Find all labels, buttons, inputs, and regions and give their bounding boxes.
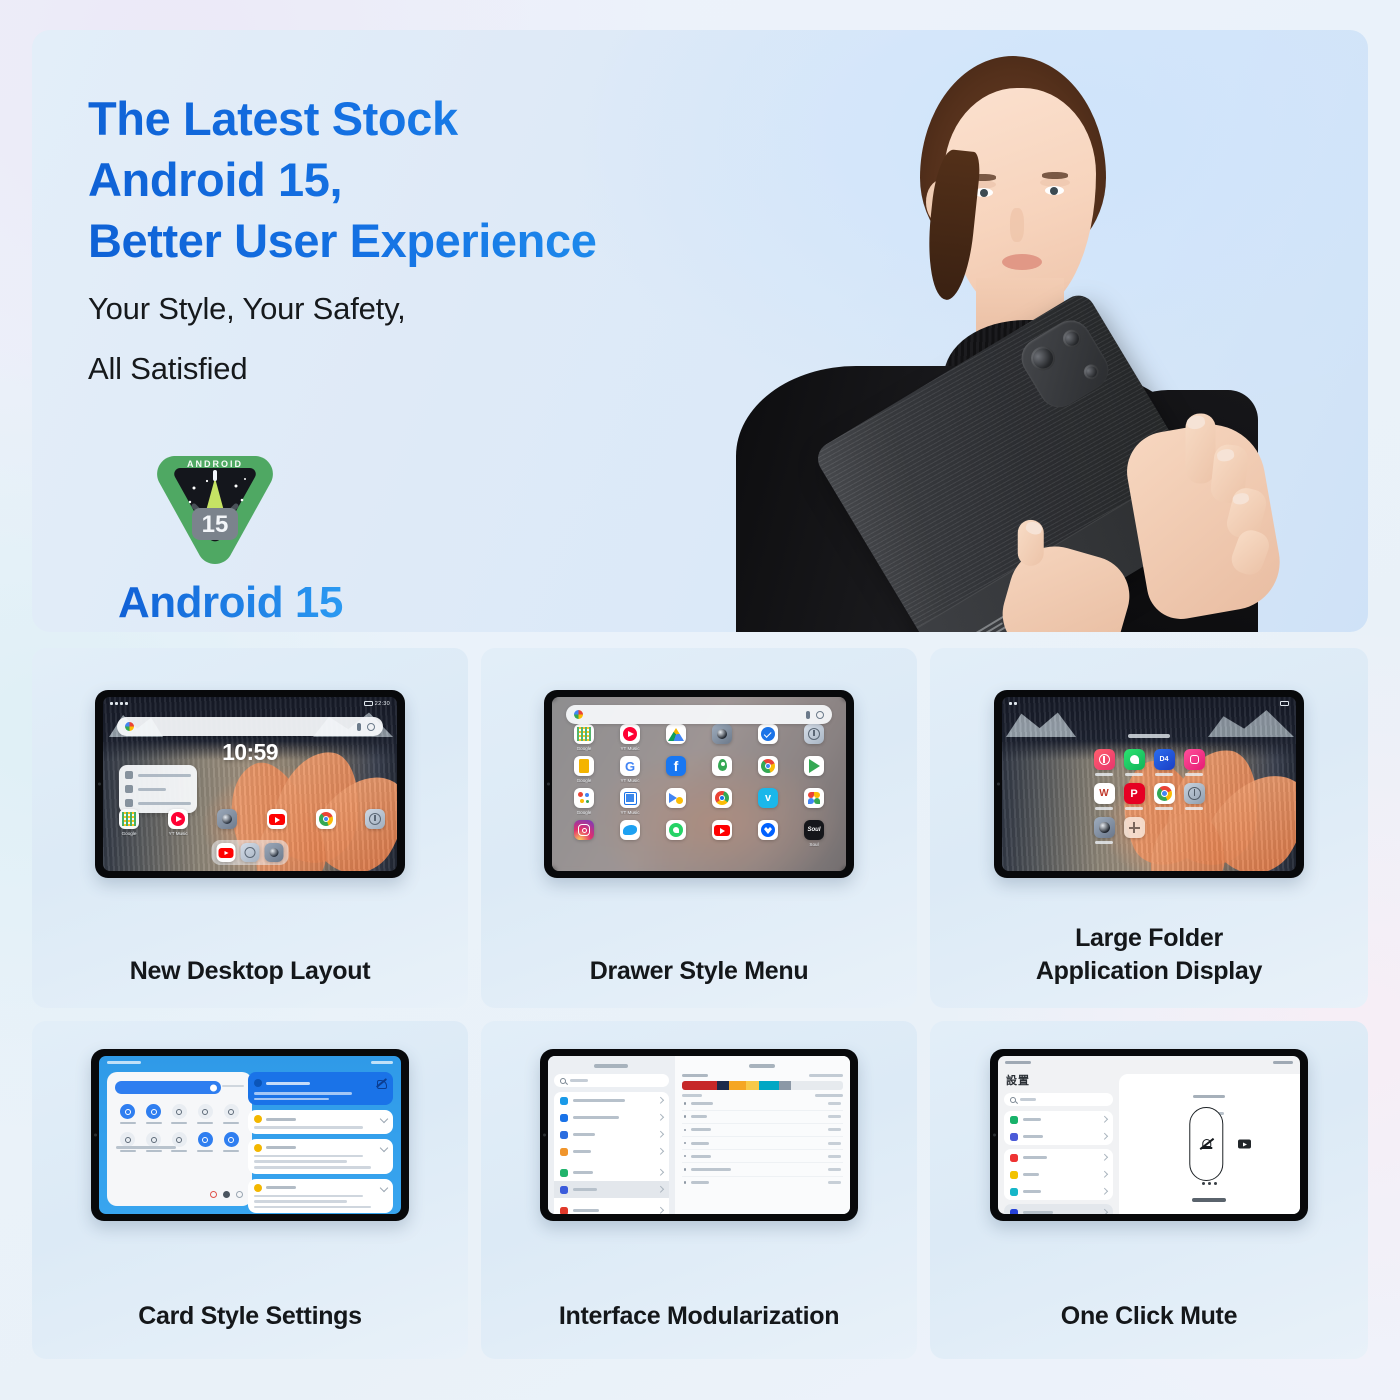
wallet-icon <box>125 785 133 793</box>
feature-card-card-style-settings[interactable]: Card Style Settings <box>32 1021 468 1359</box>
toggle-screen-record[interactable] <box>167 1132 193 1152</box>
android-15-wordmark: Android 15 <box>118 578 343 628</box>
home-app-youtube[interactable] <box>265 809 289 836</box>
user-icon[interactable] <box>223 1191 230 1198</box>
lens-camera-icon[interactable] <box>816 711 824 719</box>
front-camera-dot <box>94 1134 97 1137</box>
model-photo <box>668 30 1368 632</box>
front-camera-dot <box>543 1134 546 1137</box>
folder-app-5[interactable]: W <box>1089 783 1119 811</box>
home-app-camera[interactable] <box>215 809 239 836</box>
chevron-down-icon[interactable] <box>380 1115 388 1123</box>
drawer-app-settings[interactable] <box>791 724 837 751</box>
sidebar-item-battery[interactable] <box>554 1164 669 1181</box>
app-avatar <box>254 1184 262 1192</box>
notification-card-highlighted[interactable] <box>248 1072 393 1105</box>
scan-icon <box>125 771 133 779</box>
home-search-bar[interactable] <box>117 717 383 736</box>
dock-app-settings[interactable] <box>241 843 260 862</box>
chevron-down-icon[interactable] <box>380 1144 388 1152</box>
badge-android-text: ANDROID <box>187 459 243 469</box>
lens-camera-icon[interactable] <box>367 723 375 731</box>
app-label: Google <box>577 746 592 751</box>
storage-row[interactable] <box>682 1150 843 1163</box>
settings-two-pane <box>548 1056 850 1214</box>
clock-widget: 10:59 <box>103 739 397 766</box>
front-camera-dot <box>993 1134 996 1137</box>
home-app-yt-music[interactable]: YT Music <box>166 809 190 836</box>
sidebar-item-notifications[interactable] <box>1004 1204 1113 1214</box>
search-icon <box>1010 1097 1016 1103</box>
app-label: Google <box>117 831 141 836</box>
drawer-app-google[interactable]: Google <box>561 724 607 751</box>
drawer-app-calendar[interactable]: YT Music <box>607 788 653 815</box>
chevron-down-icon[interactable] <box>380 1183 388 1191</box>
storage-row[interactable] <box>682 1111 843 1124</box>
drawer-app-chrome-alt[interactable] <box>699 788 745 815</box>
drawer-app-google-lens[interactable]: Google <box>561 788 607 815</box>
folder-app-camera[interactable] <box>1089 817 1119 845</box>
media-volume-icon[interactable] <box>1238 1140 1251 1149</box>
large-folder-grid: D4 W <box>1089 749 1209 845</box>
feature-card-large-folder-display[interactable]: D4 W <box>930 648 1368 1008</box>
toggle-dnd[interactable] <box>167 1104 193 1124</box>
sidebar-item-connection[interactable] <box>1004 1128 1113 1145</box>
feature-card-new-desktop-layout[interactable]: 22:30 10:59 <box>32 648 468 1008</box>
bell-mute-icon <box>1200 1137 1213 1151</box>
storage-usage-bar <box>682 1081 843 1090</box>
card-caption: Card Style Settings <box>138 1300 362 1339</box>
microphone-icon[interactable] <box>806 711 810 719</box>
toggle-wifi[interactable] <box>115 1104 141 1124</box>
sidebar-list <box>554 1092 669 1214</box>
app-label: YT Music <box>620 746 639 751</box>
app-avatar <box>254 1144 262 1152</box>
status-bar <box>998 1056 1300 1069</box>
drawer-app-facebook[interactable]: f <box>653 756 699 783</box>
shortcut-widget-card[interactable] <box>119 765 197 813</box>
drawer-app-dropbox[interactable] <box>745 820 791 847</box>
caption-line-1: Large Folder <box>1075 924 1223 952</box>
home-app-settings[interactable] <box>363 809 387 836</box>
search-icon <box>560 1078 566 1084</box>
drawer-app-instagram[interactable] <box>561 820 607 847</box>
hero-panel: The Latest Stock Android 15, Better User… <box>32 30 1368 632</box>
drawer-app-twitter[interactable] <box>607 820 653 847</box>
tablet-mock-app-drawer: Google YT Music <box>544 690 854 878</box>
caption-line-2: Application Display <box>1036 957 1262 985</box>
card-caption: Interface Modularization <box>559 1300 839 1339</box>
drawer-app-camera[interactable] <box>699 724 745 751</box>
app-avatar <box>254 1079 262 1087</box>
home-dock <box>212 840 289 865</box>
folder-app-3[interactable]: D4 <box>1149 749 1179 777</box>
app-label: Google <box>577 810 592 815</box>
notification-card[interactable] <box>248 1139 393 1174</box>
toggle-auto-rotate[interactable] <box>218 1104 244 1124</box>
folder-app-settings[interactable] <box>1179 783 1209 811</box>
footer-label <box>1192 1198 1226 1202</box>
folder-add-app-button[interactable] <box>1119 817 1149 845</box>
headline-line-1: The Latest Stock <box>88 88 708 149</box>
more-options-icon[interactable] <box>1119 1182 1300 1185</box>
notification-card[interactable] <box>248 1110 393 1134</box>
drawer-app-docs[interactable]: Google <box>561 756 607 783</box>
mute-slash-icon[interactable] <box>375 1077 387 1089</box>
app-label: Google <box>577 778 592 783</box>
notification-shade <box>248 1072 393 1206</box>
status-time: 22:30 <box>375 701 390 707</box>
folder-app-1[interactable] <box>1089 749 1119 777</box>
google-icon <box>125 722 134 731</box>
feature-card-interface-modularization[interactable]: Interface Modularization <box>481 1021 917 1359</box>
headline-line-3: Better User Experience <box>88 210 708 271</box>
dock-app-camera[interactable] <box>265 843 284 862</box>
folder-app-2[interactable] <box>1119 749 1149 777</box>
app-drawer-grid: Google YT Music <box>561 724 837 847</box>
tablet-mock-quick-settings <box>91 1049 409 1221</box>
toggle-night-light[interactable] <box>218 1132 244 1152</box>
app-label: YT Music <box>620 778 639 783</box>
app-label: YT Music <box>166 831 190 836</box>
detail-title <box>1119 1085 1300 1103</box>
tablet-mock-modular-settings <box>540 1049 858 1221</box>
drawer-app-translate[interactable] <box>653 788 699 815</box>
sidebar-item-display[interactable] <box>554 1126 669 1143</box>
phone-icon <box>125 799 133 807</box>
toggle-bluetooth[interactable] <box>141 1104 167 1124</box>
front-camera-dot <box>98 783 101 786</box>
feature-card-grid: 22:30 10:59 <box>32 648 1368 1359</box>
status-bar <box>1002 697 1296 710</box>
drawer-app-maps[interactable] <box>699 756 745 783</box>
folder-app-chrome[interactable] <box>1149 783 1179 811</box>
sidebar-item-network[interactable] <box>1004 1111 1113 1128</box>
tablet-mock-home-screen: 22:30 10:59 <box>95 690 405 878</box>
feature-card-drawer-style-menu[interactable]: Google YT Music <box>481 648 917 1008</box>
card-caption: Drawer Style Menu <box>590 955 809 988</box>
settings-heading: 設置 <box>1006 1072 1113 1088</box>
drawer-app-drive[interactable] <box>653 724 699 751</box>
gear-icon[interactable] <box>236 1191 243 1198</box>
drawer-app-vimeo[interactable]: v <box>745 788 791 815</box>
folder-app-pinterest[interactable]: P <box>1119 783 1149 811</box>
power-icon[interactable] <box>210 1191 217 1198</box>
settings-sidebar: 設置 <box>998 1056 1119 1214</box>
status-bar: 22:30 <box>103 697 397 710</box>
settings-search-input[interactable] <box>554 1074 669 1087</box>
sidebar-item-sound[interactable] <box>1004 1166 1113 1183</box>
mute-settings-screen: 設置 <box>998 1056 1300 1214</box>
drawer-app-yt-music[interactable]: YT Music <box>607 724 653 751</box>
subhead-line-1: Your Style, Your Safety, <box>88 287 708 331</box>
drawer-app-soul[interactable]: Soul Soul <box>791 820 837 847</box>
drawer-app-youtube[interactable] <box>699 820 745 847</box>
android-15-badge: 15 ANDROID <box>150 448 280 577</box>
card-caption: One Click Mute <box>1061 1300 1237 1339</box>
drawer-app-tasks[interactable] <box>745 724 791 751</box>
storage-row[interactable] <box>682 1124 843 1137</box>
settings-detail-pane <box>675 1056 850 1214</box>
app-avatar <box>254 1115 262 1123</box>
tablet-mock-large-folder: D4 W <box>994 690 1304 878</box>
product-infographic: The Latest Stock Android 15, Better User… <box>0 0 1400 1400</box>
sidebar-title <box>594 1064 628 1068</box>
app-label: YT Music <box>620 810 639 815</box>
quick-settings-screen <box>99 1056 401 1214</box>
quick-settings-footer <box>116 1191 243 1198</box>
settings-sidebar <box>548 1056 675 1214</box>
device-info-text <box>116 1146 176 1149</box>
sidebar-item-connection[interactable] <box>554 1109 669 1126</box>
volume-slider-pill[interactable] <box>1190 1107 1224 1181</box>
sidebar-item-network[interactable] <box>554 1092 669 1109</box>
feature-card-one-click-mute[interactable]: 設置 <box>930 1021 1368 1359</box>
drawer-app-whatsapp[interactable] <box>653 820 699 847</box>
drawer-app-chrome[interactable] <box>745 756 791 783</box>
home-app-chrome[interactable] <box>314 809 338 836</box>
sidebar-list <box>1004 1111 1113 1145</box>
hero-copy: The Latest Stock Android 15, Better User… <box>88 88 708 391</box>
drawer-app-photos[interactable] <box>791 788 837 815</box>
subhead-line-2: All Satisfied <box>88 347 708 391</box>
toggle-battery-saver[interactable] <box>115 1132 141 1152</box>
sidebar-item-security[interactable] <box>554 1202 669 1214</box>
status-bar <box>99 1056 401 1069</box>
detail-title <box>749 1064 775 1068</box>
storage-header <box>682 1074 843 1077</box>
mute-detail-pane <box>1119 1074 1300 1214</box>
app-label: Soul <box>809 842 818 847</box>
sidebar-list-2 <box>1004 1149 1113 1200</box>
folder-name[interactable] <box>1002 725 1296 743</box>
status-battery: 22:30 <box>364 701 390 707</box>
badge-version-text: 15 <box>202 511 229 538</box>
microphone-icon[interactable] <box>357 723 361 731</box>
card-caption: New Desktop Layout <box>130 955 370 988</box>
storage-row[interactable] <box>682 1177 843 1189</box>
storage-row[interactable] <box>682 1097 843 1110</box>
status-battery <box>1280 701 1289 706</box>
toggle-mute[interactable] <box>192 1132 218 1152</box>
drawer-search-bar[interactable] <box>566 705 832 724</box>
sidebar-item-storage[interactable] <box>554 1181 669 1198</box>
folder-app-4[interactable] <box>1179 749 1209 777</box>
settings-search-input[interactable] <box>1004 1093 1113 1106</box>
storage-row[interactable] <box>682 1163 843 1176</box>
notification-card[interactable] <box>248 1179 393 1214</box>
dock-app-youtube[interactable] <box>217 843 236 862</box>
drawer-app-play-store[interactable] <box>791 756 837 783</box>
toggle-airplane-mode[interactable] <box>141 1132 167 1152</box>
headline-line-2: Android 15, <box>88 149 708 210</box>
toggle-grid <box>115 1104 244 1152</box>
sidebar-list-3 <box>1004 1204 1113 1214</box>
drawer-app-google-search[interactable]: G YT Music <box>607 756 653 783</box>
status-left-icons <box>1009 702 1017 705</box>
card-caption: Large Folder Application Display <box>1036 922 1262 988</box>
home-app-row: Google YT Music <box>117 809 387 836</box>
home-app-google[interactable]: Google <box>117 809 141 836</box>
status-left-icons <box>110 702 128 705</box>
quick-settings-panel <box>107 1072 252 1206</box>
brightness-slider[interactable] <box>115 1081 221 1094</box>
toggle-flashlight[interactable] <box>192 1104 218 1124</box>
storage-row[interactable] <box>682 1137 843 1150</box>
tablet-mock-mute-settings: 設置 <box>990 1049 1308 1221</box>
front-camera-dot <box>547 783 550 786</box>
google-icon <box>574 710 583 719</box>
front-camera-dot <box>997 783 1000 786</box>
mute-footer <box>1119 1182 1300 1207</box>
sidebar-item-display[interactable] <box>1004 1149 1113 1166</box>
sidebar-item-battery[interactable] <box>1004 1183 1113 1200</box>
sidebar-item-sound[interactable] <box>554 1143 669 1160</box>
